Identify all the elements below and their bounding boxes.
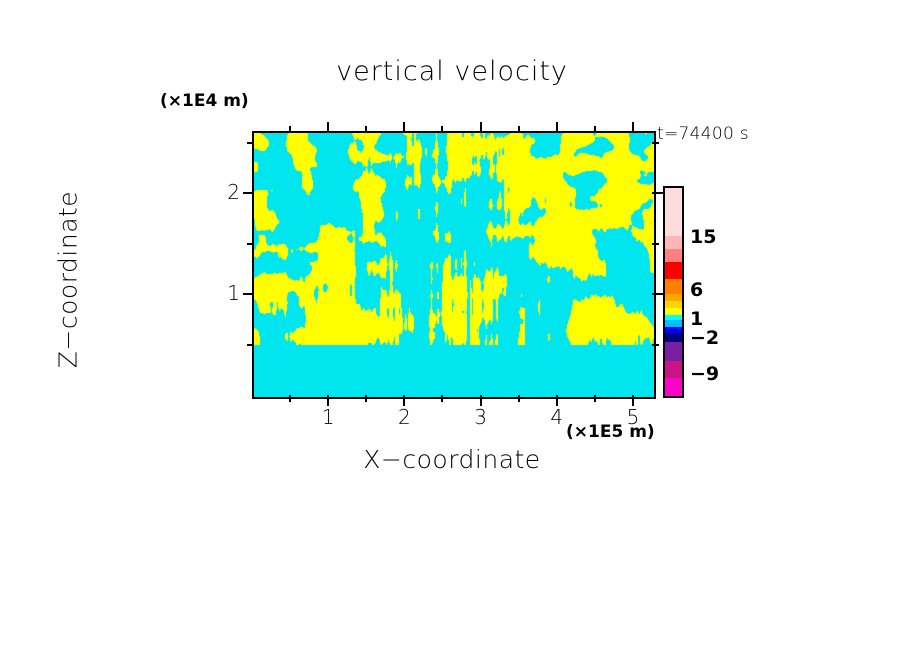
colorbar-band (665, 333, 682, 341)
x-tick (441, 126, 443, 133)
x-tick (365, 395, 367, 402)
x-tick (518, 395, 520, 402)
x-tick (518, 126, 520, 133)
y-tick (247, 243, 254, 245)
colorbar-band (665, 236, 682, 249)
colorbar-band (665, 378, 682, 396)
colorbar-band (665, 262, 682, 280)
colorbar-tick-label: 6 (690, 279, 703, 301)
colorbar (663, 186, 684, 398)
colorbar-band (665, 308, 682, 315)
x-tick (594, 126, 596, 133)
y-tick (243, 192, 254, 194)
colorbar-band (665, 327, 682, 334)
colorbar-tick-label: 15 (690, 226, 716, 248)
x-tick (594, 395, 596, 402)
vertical-velocity-field (254, 133, 654, 397)
y-tick (247, 142, 254, 144)
y-tick (247, 344, 254, 346)
page-title: vertical velocity (0, 56, 904, 87)
y-tick (652, 192, 663, 194)
x-tick (403, 122, 405, 133)
plot-area (252, 131, 656, 399)
colorbar-band (665, 342, 682, 362)
colorbar-band (665, 279, 682, 294)
colorbar-band (665, 188, 682, 236)
y-tick (652, 344, 659, 346)
x-tick (632, 122, 634, 133)
colorbar-band (665, 249, 682, 262)
x-axis-unit-label: (×1E5 m) (566, 422, 655, 442)
x-tick (327, 122, 329, 133)
x-tick (289, 395, 291, 402)
colorbar-tick-label: −2 (690, 327, 719, 349)
colorbar-band (665, 361, 682, 377)
y-tick (652, 243, 659, 245)
colorbar-tick-label: −9 (690, 363, 719, 385)
x-tick (556, 122, 558, 133)
time-annotation: t=74400 s (657, 124, 749, 144)
y-tick (243, 293, 254, 295)
x-tick-label: 2 (384, 405, 424, 429)
y-axis-unit-label: (×1E4 m) (160, 91, 249, 111)
x-tick-label: 1 (308, 405, 348, 429)
x-tick-label: 3 (461, 405, 501, 429)
x-tick (480, 122, 482, 133)
x-tick (365, 126, 367, 133)
y-tick (652, 293, 663, 295)
y-axis-label: Z−coordinate (54, 150, 83, 410)
x-axis-label: X−coordinate (0, 445, 904, 474)
colorbar-band (665, 301, 682, 308)
y-tick-label: 2 (200, 180, 240, 204)
x-tick (441, 395, 443, 402)
x-tick (289, 126, 291, 133)
y-tick-label: 1 (200, 281, 240, 305)
